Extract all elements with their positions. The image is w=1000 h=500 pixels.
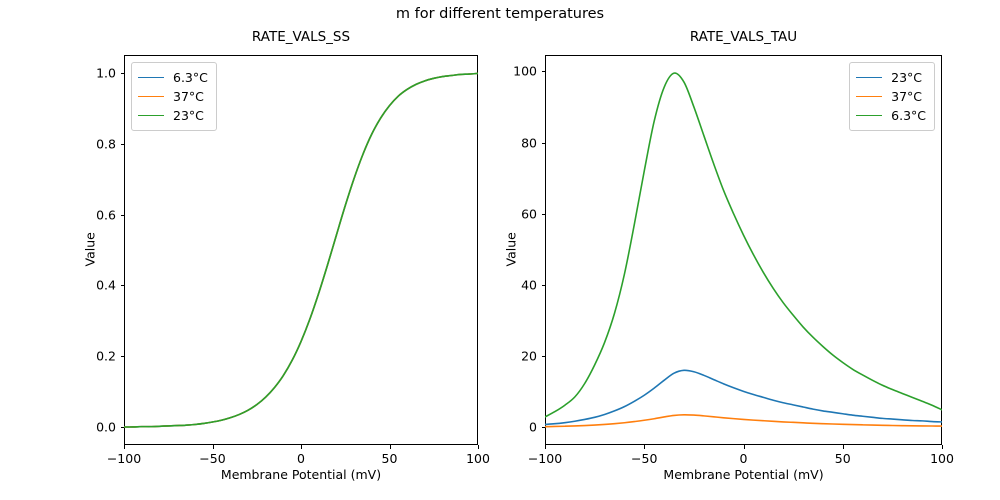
x-tick-label: −100 xyxy=(107,451,141,466)
y-tick-mark xyxy=(121,427,125,428)
legend-color-swatch xyxy=(856,77,882,78)
figure-suptitle: m for different temperatures xyxy=(0,6,1000,22)
legend-entry-label: 23°C xyxy=(173,108,204,123)
y-tick-mark xyxy=(121,144,125,145)
subplot-right-title: RATE_VALS_TAU xyxy=(545,29,942,45)
y-tick-label: 0.0 xyxy=(96,420,116,435)
y-tick-label: 20 xyxy=(521,349,537,364)
x-tick-label: 50 xyxy=(835,451,851,466)
x-axis-label-left: Membrane Potential (mV) xyxy=(124,467,478,482)
legend-entry[interactable]: 37°C xyxy=(856,87,926,106)
legend-entry[interactable]: 6.3°C xyxy=(856,106,926,125)
y-tick-mark xyxy=(121,215,125,216)
legend-entry-label: 6.3°C xyxy=(173,70,208,85)
x-tick-label: −50 xyxy=(631,451,657,466)
y-tick-mark xyxy=(542,427,546,428)
x-tick-mark xyxy=(744,445,745,449)
series-line xyxy=(545,415,942,427)
legend-color-swatch xyxy=(138,115,164,116)
x-tick-mark xyxy=(124,445,125,449)
y-tick-label: 60 xyxy=(521,206,537,221)
y-tick-label: 0.8 xyxy=(96,136,116,151)
x-tick-mark xyxy=(942,445,943,449)
x-tick-label: −100 xyxy=(528,451,562,466)
subplot-rate-vals-tau: RATE_VALS_TAU Value Membrane Potential (… xyxy=(545,55,942,445)
legend-left: 6.3°C37°C23°C xyxy=(131,62,217,131)
x-tick-mark xyxy=(213,445,214,449)
y-tick-mark xyxy=(542,214,546,215)
subplot-left-title: RATE_VALS_SS xyxy=(124,29,478,45)
y-tick-label: 100 xyxy=(513,64,537,79)
y-tick-mark xyxy=(121,356,125,357)
x-tick-mark xyxy=(843,445,844,449)
x-tick-mark xyxy=(545,445,546,449)
y-tick-label: 40 xyxy=(521,277,537,292)
y-tick-label: 0.2 xyxy=(96,349,116,364)
legend-entry[interactable]: 23°C xyxy=(856,68,926,87)
subplot-rate-vals-ss: RATE_VALS_SS Value Membrane Potential (m… xyxy=(124,55,478,445)
y-tick-mark xyxy=(542,71,546,72)
legend-color-swatch xyxy=(138,96,164,97)
x-tick-mark xyxy=(390,445,391,449)
legend-entry-label: 6.3°C xyxy=(891,108,926,123)
y-tick-mark xyxy=(542,285,546,286)
x-tick-label: 50 xyxy=(382,451,398,466)
legend-entry[interactable]: 37°C xyxy=(138,87,208,106)
y-tick-mark xyxy=(542,143,546,144)
y-tick-label: 0.6 xyxy=(96,207,116,222)
x-tick-label: 100 xyxy=(466,451,490,466)
y-tick-label: 80 xyxy=(521,135,537,150)
y-tick-label: 0.4 xyxy=(96,278,116,293)
x-tick-mark xyxy=(644,445,645,449)
x-axis-label-right: Membrane Potential (mV) xyxy=(545,467,942,482)
legend-color-swatch xyxy=(856,96,882,97)
legend-entry-label: 23°C xyxy=(891,70,922,85)
y-tick-mark xyxy=(121,73,125,74)
x-tick-mark xyxy=(478,445,479,449)
y-tick-label: 0 xyxy=(529,420,537,435)
y-tick-label: 1.0 xyxy=(96,65,116,80)
legend-entry-label: 37°C xyxy=(891,89,922,104)
x-tick-mark xyxy=(301,445,302,449)
y-axis-label-right: Value xyxy=(504,233,519,267)
x-tick-label: 100 xyxy=(930,451,954,466)
x-tick-label: 0 xyxy=(297,451,305,466)
x-tick-label: −50 xyxy=(199,451,225,466)
legend-right: 23°C37°C6.3°C xyxy=(849,62,935,131)
legend-entry[interactable]: 6.3°C xyxy=(138,68,208,87)
y-axis-label-left: Value xyxy=(83,233,98,267)
legend-color-swatch xyxy=(138,77,164,78)
legend-entry[interactable]: 23°C xyxy=(138,106,208,125)
legend-color-swatch xyxy=(856,115,882,116)
legend-entry-label: 37°C xyxy=(173,89,204,104)
y-tick-mark xyxy=(542,356,546,357)
series-line xyxy=(545,370,942,424)
x-tick-label: 0 xyxy=(740,451,748,466)
y-tick-mark xyxy=(121,285,125,286)
matplotlib-figure: m for different temperatures RATE_VALS_S… xyxy=(0,0,1000,500)
